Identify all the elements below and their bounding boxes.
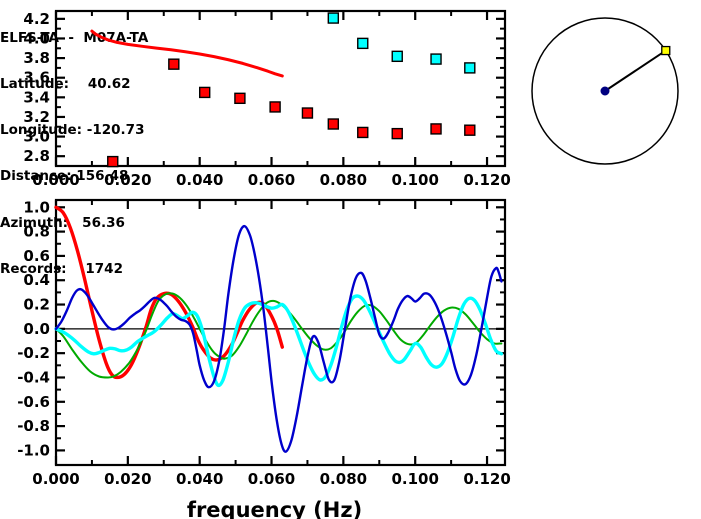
waveform-xtick-label: 0.040 bbox=[176, 470, 223, 488]
measured-phase-velocity-red bbox=[108, 59, 475, 166]
frequency-axis-title: frequency (Hz) bbox=[187, 498, 362, 519]
dispersion-xtick-label: 0.060 bbox=[248, 171, 295, 189]
data-point-marker bbox=[392, 129, 402, 139]
data-point-marker bbox=[235, 93, 245, 103]
waveform-ytick-label: -0.4 bbox=[17, 368, 50, 386]
data-point-marker bbox=[169, 59, 179, 69]
data-point-marker bbox=[465, 125, 475, 135]
remote-station-marker bbox=[662, 47, 670, 55]
data-point-marker bbox=[328, 119, 338, 129]
dispersion-ytick-label: 3.8 bbox=[23, 49, 50, 67]
dispersion-ytick-label: 4.2 bbox=[23, 10, 50, 28]
dispersion-ytick-label: 3.6 bbox=[23, 69, 50, 87]
dispersion-xtick-label: 0.040 bbox=[176, 171, 223, 189]
azimuth-map-panel bbox=[513, 0, 701, 182]
waveform-xtick-label: 0.120 bbox=[463, 470, 510, 488]
center-station-dot bbox=[601, 87, 609, 95]
data-point-marker bbox=[328, 13, 338, 23]
data-point-marker bbox=[431, 124, 441, 134]
waveform-ytick-label: -0.6 bbox=[17, 393, 50, 411]
waveform-ytick-label: 0.0 bbox=[23, 320, 50, 338]
data-point-marker bbox=[108, 157, 118, 167]
waveform-xtick-label: 0.060 bbox=[248, 470, 295, 488]
waveform-ytick-label: 1.0 bbox=[23, 198, 50, 216]
waveform-cyan bbox=[56, 296, 501, 385]
data-point-marker bbox=[431, 54, 441, 64]
dispersion-ytick-label: 3.4 bbox=[23, 88, 50, 106]
data-point-marker bbox=[200, 87, 210, 97]
reference-dispersion-curve bbox=[92, 31, 282, 76]
waveform-xtick-label: 0.080 bbox=[320, 470, 367, 488]
data-point-marker bbox=[465, 63, 475, 73]
data-point-marker bbox=[270, 102, 280, 112]
dispersion-ytick-label: 3.0 bbox=[23, 128, 50, 146]
measured-phase-velocity-cyan bbox=[328, 13, 474, 73]
waveform-ytick-label: 0.8 bbox=[23, 223, 50, 241]
waveform-xtick-label: 0.000 bbox=[32, 470, 79, 488]
waveform-ytick-label: 0.4 bbox=[23, 271, 50, 289]
azimuth-ray-line bbox=[605, 51, 666, 91]
data-point-marker bbox=[358, 38, 368, 48]
dispersion-xtick-label: 0.000 bbox=[32, 171, 79, 189]
waveform-xtick-label: 0.100 bbox=[391, 470, 438, 488]
data-point-marker bbox=[302, 108, 312, 118]
dispersion-xtick-label: 0.120 bbox=[463, 171, 510, 189]
waveform-ytick-label: -1.0 bbox=[17, 441, 50, 459]
dispersion-ytick-label: 4.0 bbox=[23, 29, 50, 47]
dispersion-panel: 2.83.03.23.43.63.84.04.20.0000.0200.0400… bbox=[0, 0, 513, 190]
dispersion-ytick-label: 2.8 bbox=[23, 147, 50, 165]
dispersion-xtick-label: 0.100 bbox=[391, 171, 438, 189]
seismic-station-pair-figure: 2.83.03.23.43.63.84.04.20.0000.0200.0400… bbox=[0, 0, 701, 519]
waveform-ytick-label: 0.6 bbox=[23, 247, 50, 265]
data-point-marker bbox=[392, 51, 402, 61]
waveform-xtick-label: 0.020 bbox=[104, 470, 151, 488]
dispersion-ytick-label: 3.2 bbox=[23, 108, 50, 126]
waveform-ytick-label: -0.2 bbox=[17, 344, 50, 362]
data-point-marker bbox=[358, 127, 368, 137]
azimuth-map-svg bbox=[513, 0, 701, 182]
waveform-plot-svg: -1.0-0.8-0.6-0.4-0.20.00.20.40.60.81.00.… bbox=[0, 190, 513, 519]
dispersion-xtick-label: 0.080 bbox=[320, 171, 367, 189]
dispersion-xtick-label: 0.020 bbox=[104, 171, 151, 189]
waveform-ytick-label: 0.2 bbox=[23, 296, 50, 314]
waveform-panel: -1.0-0.8-0.6-0.4-0.20.00.20.40.60.81.00.… bbox=[0, 190, 513, 519]
dispersion-plot-svg: 2.83.03.23.43.63.84.04.20.0000.0200.0400… bbox=[0, 0, 513, 190]
waveform-ytick-label: -0.8 bbox=[17, 417, 50, 435]
